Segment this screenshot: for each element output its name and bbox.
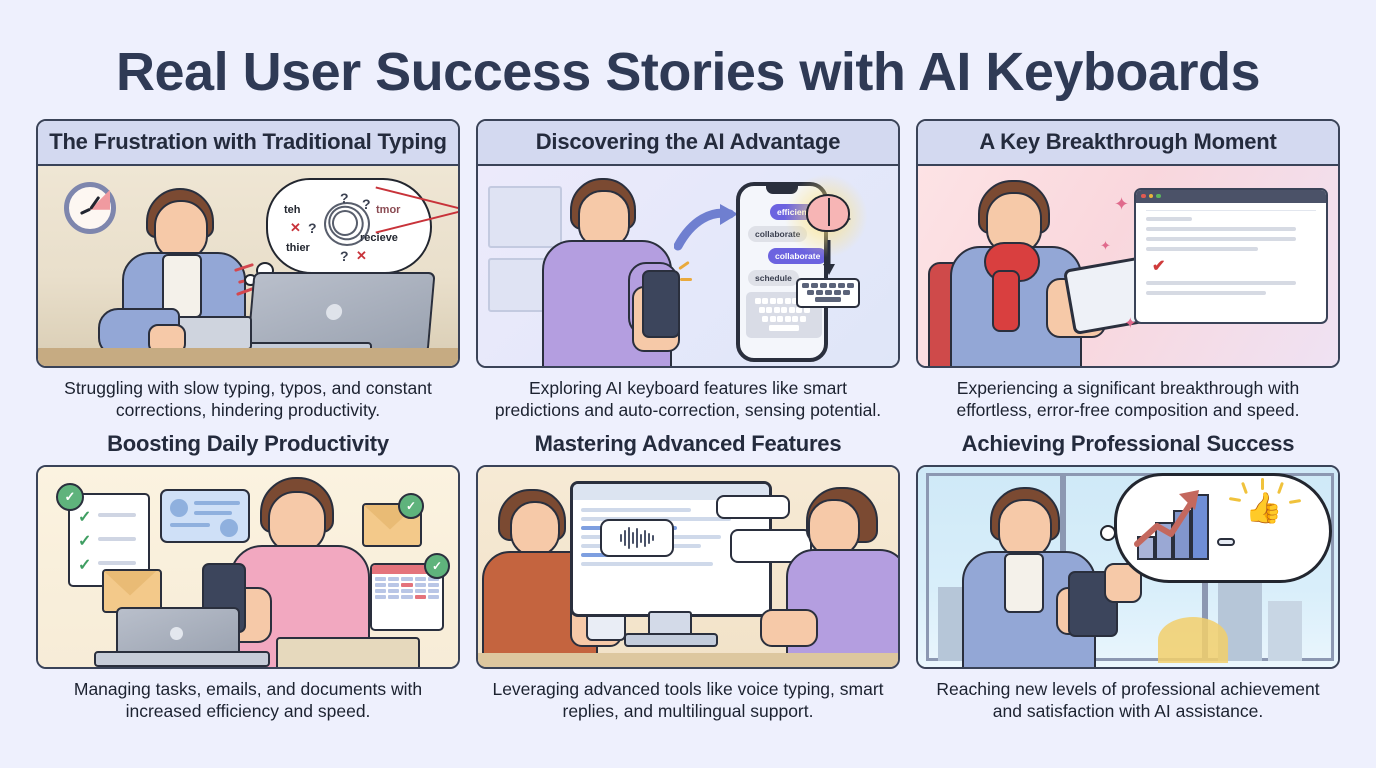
panel-row-1: The Frustration with Traditional Typing — [0, 119, 1376, 422]
panel-row-2: Boosting Daily Productivity ✓ ✓ ✓ ✓ — [0, 431, 1376, 723]
close-dot-icon — [1141, 194, 1146, 199]
checkmark-icon: ✔ — [1152, 259, 1165, 275]
cross-mark-icon: ✕ — [356, 248, 367, 264]
minimize-dot-icon — [1149, 194, 1154, 199]
brain-icon — [806, 194, 850, 232]
panel-6-caption: Reaching new levels of professional achi… — [926, 679, 1330, 723]
check-badge-icon: ✓ — [424, 553, 450, 579]
panel-5-card — [476, 465, 900, 669]
success-banner — [1217, 538, 1235, 546]
ray-icon — [1289, 499, 1301, 504]
panel-3-card: A Key Breakthrough Moment — [916, 119, 1340, 368]
panel-1: The Frustration with Traditional Typing — [36, 119, 460, 422]
panel-5-scene — [478, 467, 898, 667]
thought-cloud-icon: teh thier recieve tmor ? ? ? ? ✕ ✕ — [266, 178, 432, 274]
chat-bubble-icon — [160, 489, 250, 543]
typo-word-struck: tmor — [376, 204, 458, 216]
panel-5: Mastering Advanced Features — [476, 431, 900, 723]
person-head — [998, 499, 1052, 559]
panel-4-caption: Managing tasks, emails, and documents wi… — [46, 679, 450, 723]
panel-2-caption: Exploring AI keyboard features like smar… — [486, 378, 890, 422]
desk-surface — [478, 653, 898, 667]
person-shirt — [1004, 553, 1044, 613]
monitor-base — [624, 633, 718, 647]
panel-2-card: Discovering the AI Advantage — [476, 119, 900, 368]
spark-icon — [678, 261, 690, 270]
keyboard-icon — [796, 278, 860, 308]
question-mark-icon: ? — [308, 220, 317, 236]
panel-4: Boosting Daily Productivity ✓ ✓ ✓ ✓ — [36, 431, 460, 723]
person-body — [786, 549, 898, 667]
panel-1-caption: Struggling with slow typing, typos, and … — [46, 378, 450, 422]
panel-6: Achieving Professional Success — [916, 431, 1340, 723]
panel-6-scene: 👍 — [918, 467, 1338, 667]
panel-4-heading: Boosting Daily Productivity — [107, 431, 389, 457]
person-head — [578, 190, 630, 248]
smartphone-icon — [642, 270, 680, 338]
typo-word: teh — [284, 204, 301, 216]
panel-1-scene: teh thier recieve tmor ? ? ? ? ✕ ✕ — [38, 166, 458, 366]
panel-2-scene: efficiently collaborate collaborate sche… — [478, 166, 898, 366]
thumbs-up-icon: 👍 — [1245, 494, 1282, 524]
question-mark-icon: ? — [340, 248, 349, 264]
panel-6-card: 👍 — [916, 465, 1340, 669]
panel-5-caption: Leveraging advanced tools like voice typ… — [486, 679, 890, 723]
person-head — [510, 501, 560, 557]
panel-2-heading: Discovering the AI Advantage — [478, 121, 898, 166]
panel-1-card: The Frustration with Traditional Typing — [36, 119, 460, 368]
arrow-down-icon — [822, 240, 836, 281]
speech-bubble-icon — [716, 495, 790, 519]
maximize-dot-icon — [1156, 194, 1161, 199]
sparkle-icon: ✦ — [1114, 194, 1129, 215]
page-title: Real User Success Stories with AI Keyboa… — [0, 0, 1376, 101]
desk-surface — [276, 637, 420, 667]
cityscape-icon — [1268, 601, 1302, 661]
panel-4-card: ✓ ✓ ✓ ✓ — [36, 465, 460, 669]
ray-icon — [1229, 497, 1241, 502]
scarf-tail-icon — [992, 270, 1020, 332]
waveform-icon — [600, 519, 674, 557]
panel-3-scene: ✦ ✦ ✦ — [918, 166, 1338, 366]
ray-icon — [1261, 478, 1264, 490]
panel-4-scene: ✓ ✓ ✓ ✓ — [38, 467, 458, 667]
panel-1-heading: The Frustration with Traditional Typing — [38, 121, 458, 166]
arrow-right-icon — [674, 202, 740, 254]
trend-arrow-icon — [1133, 482, 1219, 552]
typo-word: thier — [286, 242, 310, 254]
person-head — [154, 200, 208, 260]
panel-3-caption: Experiencing a significant breakthrough … — [926, 378, 1330, 422]
person-head — [268, 491, 326, 553]
desk-surface — [38, 348, 458, 366]
panel-2: Discovering the AI Advantage — [476, 119, 900, 422]
shelf-icon — [488, 186, 562, 248]
thought-cloud-icon: 👍 — [1114, 473, 1332, 583]
sparkle-icon: ✦ — [1100, 238, 1111, 254]
doc-title-row: ✔ — [1146, 259, 1316, 275]
clock-icon — [64, 182, 116, 234]
panel-6-heading: Achieving Professional Success — [962, 431, 1295, 457]
sun-icon — [1158, 617, 1228, 663]
cross-mark-icon: ✕ — [290, 220, 301, 236]
spark-icon — [680, 278, 692, 281]
document-window-icon: ✔ — [1134, 188, 1328, 324]
suggestion-chip[interactable]: schedule — [748, 270, 799, 286]
window-titlebar — [1136, 190, 1326, 203]
panel-5-heading: Mastering Advanced Features — [535, 431, 842, 457]
person-hand — [760, 609, 818, 647]
panel-3-heading: A Key Breakthrough Moment — [918, 121, 1338, 166]
infographic-page: Real User Success Stories with AI Keyboa… — [0, 0, 1376, 768]
laptop-base — [94, 651, 270, 667]
panel-3: A Key Breakthrough Moment — [916, 119, 1340, 422]
